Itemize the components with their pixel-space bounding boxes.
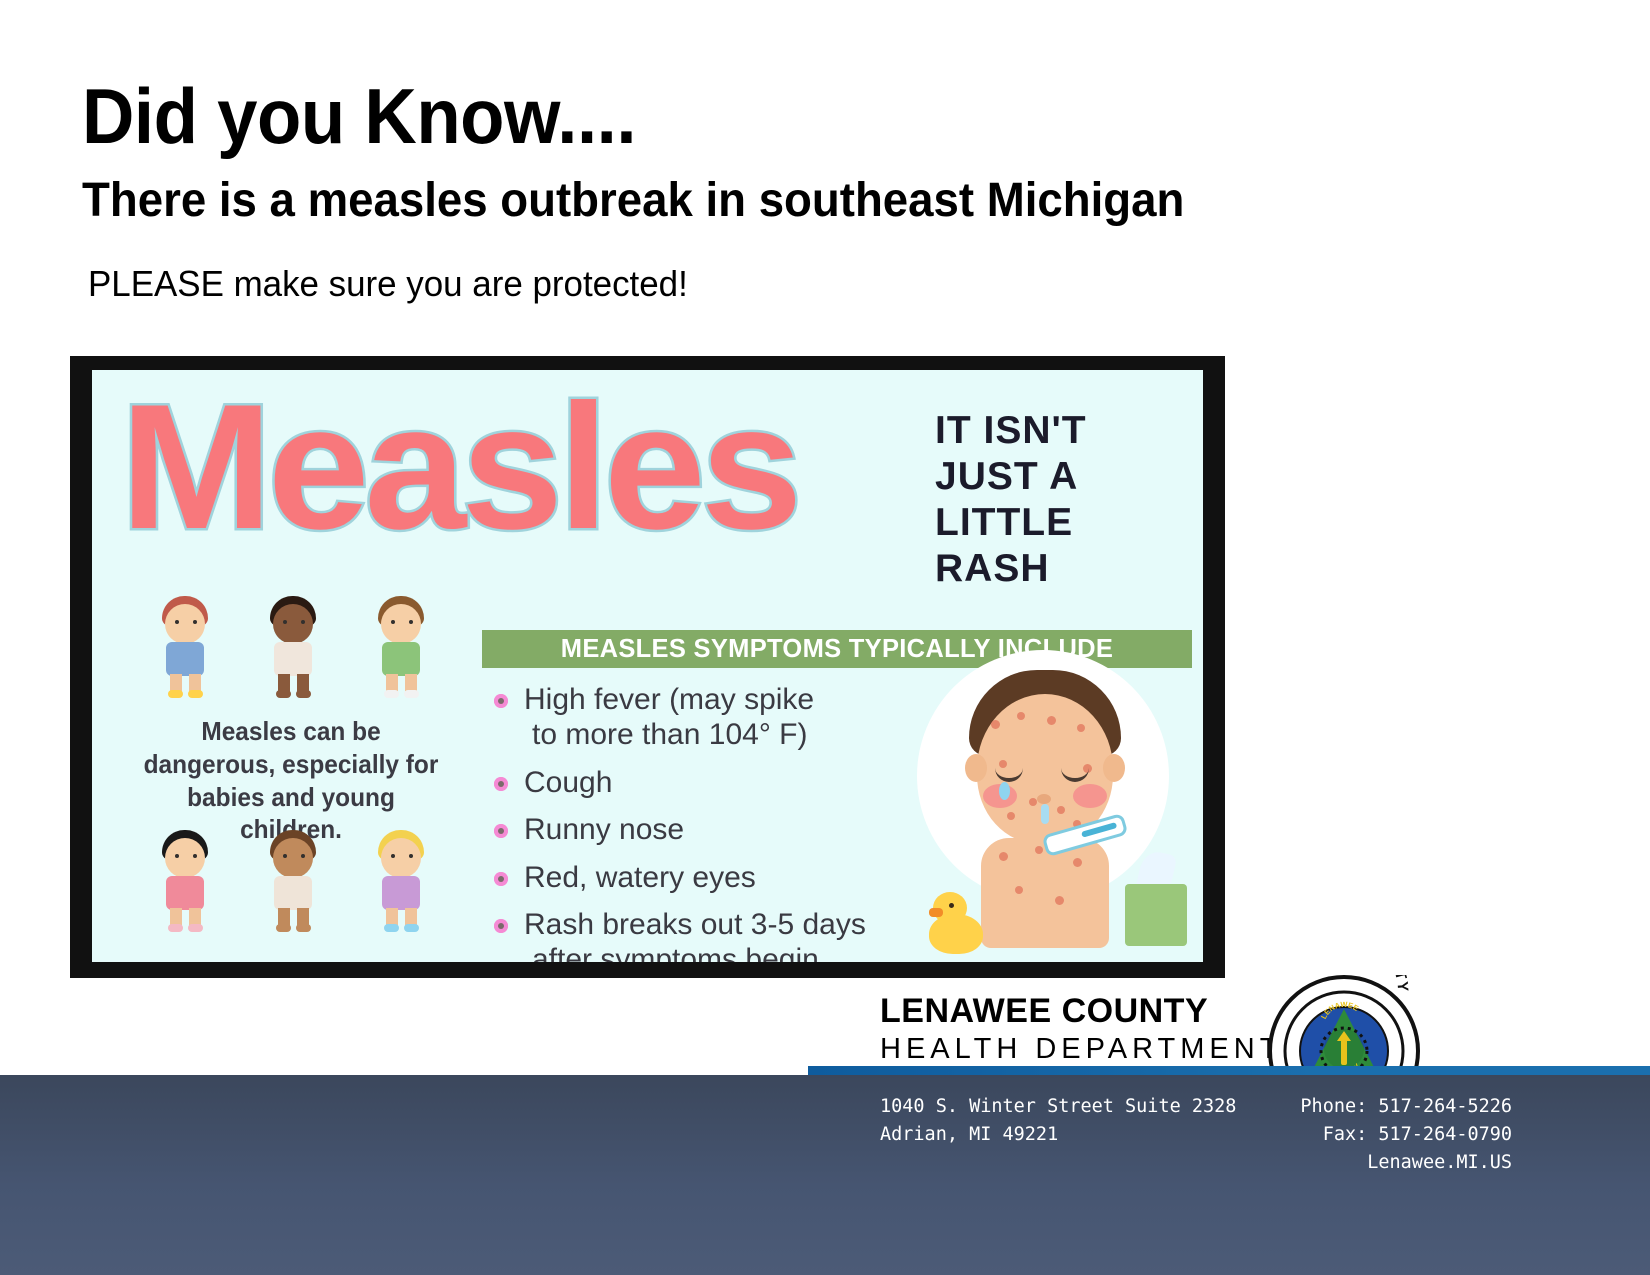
bullet-icon <box>494 824 508 838</box>
footer-address: 1040 S. Winter Street Suite 2328 Adrian,… <box>880 1093 1236 1176</box>
footer-contact-block: 1040 S. Winter Street Suite 2328 Adrian,… <box>880 1093 1500 1176</box>
footer-bar: 1040 S. Winter Street Suite 2328 Adrian,… <box>0 1075 1650 1275</box>
measles-poster: Measles IT ISN'T JUST A LITTLE RASH <box>70 356 1225 978</box>
kids-caption: Measles can be dangerous, especially for… <box>136 715 446 846</box>
child-figure-icon <box>256 830 330 934</box>
child-ear-left <box>965 754 987 782</box>
tagline-line-4: RASH <box>935 546 1175 592</box>
address-line-1: 1040 S. Winter Street Suite 2328 <box>880 1093 1236 1121</box>
bullet-icon <box>494 694 508 708</box>
department-block: LENAWEE COUNTY HEALTH DEPARTMENT <box>880 993 1190 1067</box>
phone-number: Phone: 517-264-5226 <box>1300 1093 1512 1121</box>
child-body <box>981 838 1109 948</box>
website-url[interactable]: Lenawee.MI.US <box>1300 1149 1512 1177</box>
child-figure-icon <box>148 830 222 934</box>
tagline-line-2: JUST A <box>935 454 1175 500</box>
symptom-text: Cough <box>524 766 612 799</box>
symptom-text: Runny nose <box>524 813 684 846</box>
symptom-item: Runny nose <box>490 812 920 847</box>
symptom-item: Red, watery eyes <box>490 860 920 895</box>
symptom-text: High fever (may spike <box>524 683 814 716</box>
footer-accent-bar <box>808 1066 1650 1075</box>
poster-canvas: Measles IT ISN'T JUST A LITTLE RASH <box>92 370 1203 962</box>
page-note: PLEASE make sure you are protected! <box>88 265 1518 303</box>
symptom-item: High fever (may spike to more than 104° … <box>490 682 920 753</box>
symptom-item: Rash breaks out 3-5 days after symptoms … <box>490 907 920 962</box>
kids-illustration-bottom-row <box>148 830 438 934</box>
bullet-icon <box>494 919 508 933</box>
child-cheek-right <box>1073 784 1107 808</box>
sick-child-illustration <box>895 642 1195 962</box>
tagline-line-1: IT ISN'T <box>935 408 1175 454</box>
measles-wordmark: Measles <box>120 378 797 556</box>
symptom-text: Red, watery eyes <box>524 861 756 894</box>
runny-nose-drip <box>1041 804 1049 824</box>
fax-number: Fax: 517-264-0790 <box>1300 1121 1512 1149</box>
tear-drop-icon <box>999 782 1010 800</box>
page-subtitle: There is a measles outbreak in southeast… <box>82 176 1488 226</box>
child-figure-icon <box>364 830 438 934</box>
symptom-item: Cough <box>490 765 920 800</box>
tagline-line-3: LITTLE <box>935 500 1175 546</box>
department-name: LENAWEE COUNTY <box>880 993 1190 1030</box>
symptom-text: Rash breaks out 3-5 days <box>524 908 866 941</box>
child-figure-icon <box>148 596 222 700</box>
child-figure-icon <box>364 596 438 700</box>
department-division: HEALTH DEPARTMENT <box>880 1033 1190 1066</box>
tissue-box-icon <box>1125 884 1187 946</box>
child-figure-icon <box>256 596 330 700</box>
symptom-text-line2: to more than 104° F) <box>524 717 920 752</box>
address-line-2: Adrian, MI 49221 <box>880 1121 1236 1149</box>
rubber-duck-icon <box>929 892 987 954</box>
kids-illustration-top-row <box>148 596 438 700</box>
page-title: Did you Know.... <box>82 78 1458 154</box>
symptom-text-line2: after symptoms begin <box>524 942 920 962</box>
symptoms-list: High fever (may spike to more than 104° … <box>490 682 920 962</box>
poster-tagline: IT ISN'T JUST A LITTLE RASH <box>935 408 1175 592</box>
footer-contact-details: Phone: 517-264-5226 Fax: 517-264-0790 Le… <box>1300 1093 1512 1176</box>
heading-block: Did you Know.... There is a measles outb… <box>82 78 1562 303</box>
bullet-icon <box>494 777 508 791</box>
bullet-icon <box>494 872 508 886</box>
child-nose <box>1037 794 1051 804</box>
child-ear-right <box>1103 754 1125 782</box>
